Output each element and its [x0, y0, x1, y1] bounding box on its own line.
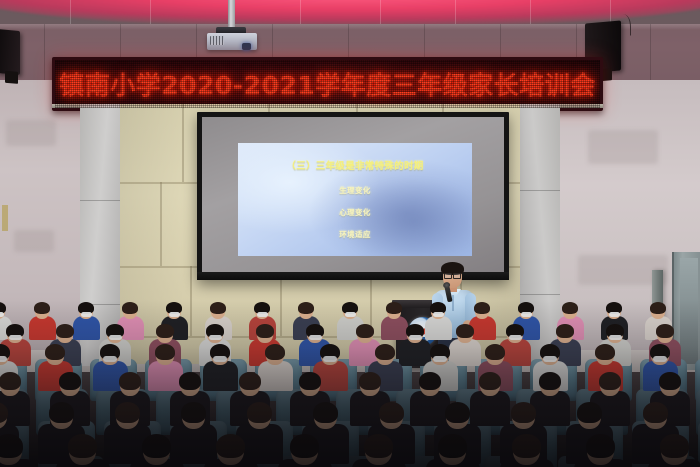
screen-surface: （三）三年级是非常特殊的时期 生理变化 心理变化 环境适应	[202, 117, 504, 272]
wall-speaker-left	[0, 29, 20, 75]
face-mask	[509, 335, 522, 340]
ceiling-seam	[300, 0, 301, 24]
ceiling-seam	[150, 0, 151, 24]
audience-member-hair	[419, 372, 441, 390]
led-scrolling-banner: 镇南小学2020-2021学年度三年级家长培训会	[52, 57, 603, 111]
face-mask	[323, 356, 337, 362]
face-mask	[103, 356, 117, 362]
audience-member-hair	[239, 372, 261, 390]
audience-member-hair	[247, 402, 272, 423]
audience-member-hair	[298, 302, 314, 314]
audience-member-hair	[379, 402, 404, 423]
audience-member-hair	[313, 402, 338, 423]
audience-member-hair	[256, 324, 274, 338]
face-mask	[257, 312, 268, 317]
audience-member-hair	[34, 302, 50, 314]
audience-member-body	[410, 391, 450, 426]
wall-scuff	[14, 230, 54, 252]
ceiling-projector	[207, 33, 257, 50]
audience-member-hair	[445, 402, 470, 423]
audience-member-hair	[115, 402, 140, 423]
audience-member-hair	[181, 402, 206, 423]
auditorium-scene: 镇南小学2020-2021学年度三年级家长培训会 （三）三年级是非常特殊的时期 …	[0, 0, 700, 467]
audience-member-hair	[485, 344, 505, 360]
ceiling-seam	[70, 0, 71, 24]
audience-member-hair	[49, 402, 74, 423]
projector-vent	[210, 36, 224, 45]
audience-member-body	[170, 424, 217, 464]
audience-member-body	[470, 391, 510, 426]
audience-member-body	[425, 316, 452, 340]
audience-member-hair	[68, 434, 97, 458]
face-mask	[109, 335, 122, 340]
audience-member-hair	[386, 302, 402, 314]
audience-member-hair	[216, 434, 245, 458]
audience-member-body	[530, 391, 570, 426]
upper-wall-seam	[650, 24, 651, 80]
audience-member-body	[29, 316, 56, 340]
face-mask	[433, 356, 447, 362]
face-mask	[169, 312, 180, 317]
ceiling-seam	[455, 0, 456, 24]
upper-wall-seam	[44, 24, 45, 80]
pilaster-joint	[520, 294, 560, 295]
slide-bullet: 环境适应	[238, 229, 472, 240]
stage-wall-seam-v	[160, 182, 162, 266]
audience-member-hair	[643, 402, 668, 423]
audience-member-hair	[155, 344, 175, 360]
ceiling-seam	[380, 0, 381, 24]
audience-member-hair	[586, 434, 615, 458]
audience-member-hair	[156, 324, 174, 338]
audience-member-hair	[0, 372, 21, 390]
audience-member-hair	[438, 434, 467, 458]
audience-member-hair	[265, 344, 285, 360]
audience-member-hair	[659, 372, 681, 390]
audience-member-hair	[474, 302, 490, 314]
audience-member-hair	[45, 344, 65, 360]
audience-member-hair	[660, 434, 689, 458]
slide-bullet: 生理变化	[238, 185, 472, 196]
ceiling-seam	[530, 0, 531, 24]
audience-member-body	[258, 361, 293, 391]
face-mask	[0, 356, 7, 362]
audience-member-hair	[179, 372, 201, 390]
audience-member-hair	[511, 402, 536, 423]
face-mask	[609, 335, 622, 340]
audience-member-hair	[56, 324, 74, 338]
led-banner-text: 镇南小学2020-2021学年度三年级家长培训会	[55, 60, 600, 108]
audience-member-hair	[375, 344, 395, 360]
projected-slide: （三）三年级是非常特殊的时期 生理变化 心理变化 环境适应	[238, 143, 472, 256]
audience-seating	[0, 300, 700, 467]
audience-member-hair	[656, 324, 674, 338]
audience-member-hair	[595, 344, 615, 360]
audience-member-hair	[512, 434, 541, 458]
audience-member-hair	[364, 434, 393, 458]
audience-member-hair	[290, 434, 319, 458]
audience-member-hair	[577, 402, 602, 423]
audience-member-hair	[299, 372, 321, 390]
slide-bullet-list: 生理变化 心理变化 环境适应	[238, 185, 472, 251]
face-mask	[213, 356, 227, 362]
audience-member-hair	[650, 302, 666, 314]
audience-member-hair	[210, 302, 226, 314]
face-mask	[345, 312, 356, 317]
wall-plate	[2, 205, 8, 231]
audience-member-hair	[562, 302, 578, 314]
slide-bullet: 心理变化	[238, 207, 472, 218]
face-mask	[309, 335, 322, 340]
audience-member-hair	[479, 372, 501, 390]
audience-member-hair	[0, 434, 23, 458]
pilaster-joint	[520, 190, 560, 191]
audience-member-hair	[122, 302, 138, 314]
face-mask	[543, 356, 557, 362]
stage-wall-seam-v	[182, 104, 184, 182]
audience-member-hair	[359, 372, 381, 390]
face-mask	[81, 312, 92, 317]
face-mask	[9, 335, 22, 340]
face-mask	[521, 312, 532, 317]
audience-member-hair	[556, 324, 574, 338]
audience-member-hair	[599, 372, 621, 390]
audience-member-body	[203, 361, 238, 391]
face-mask	[433, 312, 444, 317]
pilaster-joint	[80, 200, 120, 201]
projection-screen: （三）三年级是非常特殊的时期 生理变化 心理变化 环境适应	[197, 112, 509, 280]
speaker-bracket	[5, 71, 18, 84]
audience-member-body	[73, 316, 100, 340]
wall-scuff	[588, 130, 658, 164]
face-mask	[209, 335, 222, 340]
audience-member-hair	[356, 324, 374, 338]
audience-member-hair	[59, 372, 81, 390]
audience-member-body	[381, 316, 408, 340]
face-mask	[409, 335, 422, 340]
audience-member-hair	[119, 372, 141, 390]
wall-scuff	[6, 120, 56, 146]
projector-lens-icon	[242, 43, 251, 50]
slide-title: （三）三年级是非常特殊的时期	[238, 158, 472, 172]
audience-member-body	[148, 361, 183, 391]
audience-member-hair	[142, 434, 171, 458]
face-mask	[653, 356, 667, 362]
audience-member-hair	[539, 372, 561, 390]
glasses-icon	[444, 273, 461, 277]
audience-member-hair	[456, 324, 474, 338]
face-mask	[609, 312, 620, 317]
